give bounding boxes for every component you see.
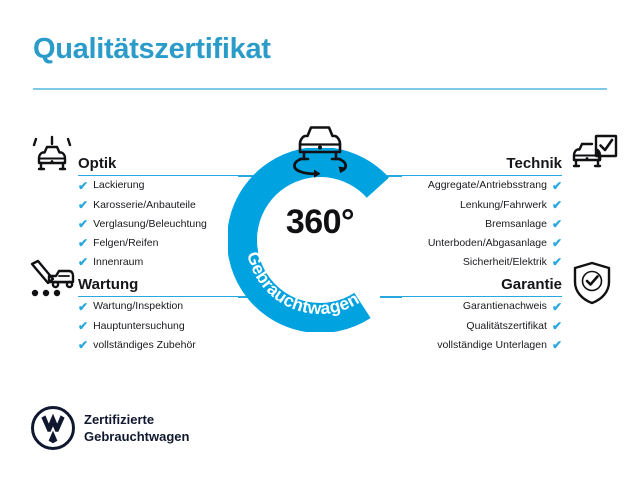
section-divider-garantie bbox=[387, 296, 562, 298]
checklist-item-label: Garantienachweis bbox=[463, 301, 547, 312]
section-optik: Optik ✔Lackierung✔Karosserie/Anbauteile✔… bbox=[78, 146, 238, 272]
checklist-item-label: Unterboden/Abgasanlage bbox=[428, 238, 547, 249]
check-icon: ✔ bbox=[78, 180, 88, 192]
check-icon: ✔ bbox=[552, 320, 562, 332]
checklist-item-label: Hauptuntersuchung bbox=[93, 321, 185, 332]
section-garantie: Garantie Garantienachweis✔Qualitätszerti… bbox=[387, 267, 562, 355]
section-header-technik: Technik bbox=[387, 146, 562, 176]
checklist-item-label: vollständige Unterlagen bbox=[437, 340, 547, 351]
page-title: Qualitätszertifikat bbox=[33, 33, 271, 66]
checklist-item-label: Karosserie/Anbauteile bbox=[93, 200, 196, 211]
car-shine-icon bbox=[26, 134, 78, 180]
checklist-item-label: vollständiges Zubehör bbox=[93, 340, 196, 351]
checklist-item: ✔Felgen/Reifen bbox=[78, 234, 238, 253]
shield-check-icon bbox=[570, 260, 614, 306]
check-icon: ✔ bbox=[552, 218, 562, 230]
section-title-wartung: Wartung bbox=[78, 276, 138, 293]
footer-line-2: Gebrauchtwagen bbox=[84, 428, 189, 445]
section-divider-optik bbox=[78, 175, 238, 177]
checklist-item-label: Lackierung bbox=[93, 180, 144, 191]
section-divider-technik bbox=[387, 175, 562, 177]
checklist-item: ✔Verglasung/Beleuchtung bbox=[78, 214, 238, 233]
car-checkbox-icon bbox=[566, 134, 618, 180]
section-technik: Technik Aggregate/Antriebsstrang✔Lenkung… bbox=[387, 146, 562, 272]
badge-degrees-label: 360° bbox=[228, 203, 412, 242]
check-icon: ✔ bbox=[552, 199, 562, 211]
footer-line-1: Zertifizierte bbox=[84, 411, 189, 428]
checklist-item: ✔Hauptuntersuchung bbox=[78, 316, 238, 335]
checklist-item: Aggregate/Antriebsstrang✔ bbox=[387, 176, 562, 195]
checklist-optik: ✔Lackierung✔Karosserie/Anbauteile✔Vergla… bbox=[78, 176, 238, 272]
check-icon: ✔ bbox=[78, 237, 88, 249]
service-pen-car-icon bbox=[24, 258, 80, 304]
check-icon: ✔ bbox=[78, 199, 88, 211]
checklist-item: ✔Lackierung bbox=[78, 176, 238, 195]
checklist-item: ✔Karosserie/Anbauteile bbox=[78, 195, 238, 214]
checklist-item-label: Aggregate/Antriebsstrang bbox=[428, 180, 547, 191]
check-icon: ✔ bbox=[552, 237, 562, 249]
car-front-rotation-icon bbox=[278, 120, 362, 182]
section-divider-wartung bbox=[78, 296, 238, 298]
checklist-item: Qualitätszertifikat✔ bbox=[387, 316, 562, 335]
check-icon: ✔ bbox=[78, 301, 88, 313]
check-icon: ✔ bbox=[78, 218, 88, 230]
section-header-wartung: Wartung bbox=[78, 267, 238, 297]
check-icon: ✔ bbox=[552, 301, 562, 313]
checklist-item-label: Wartung/Inspektion bbox=[93, 301, 183, 312]
checklist-item: Garantienachweis✔ bbox=[387, 297, 562, 316]
check-icon: ✔ bbox=[552, 339, 562, 351]
checklist-item: ✔Wartung/Inspektion bbox=[78, 297, 238, 316]
certificate-page: Qualitätszertifikat bbox=[0, 0, 640, 480]
checklist-item: Unterboden/Abgasanlage✔ bbox=[387, 234, 562, 253]
checklist-item-label: Lenkung/Fahrwerk bbox=[460, 200, 547, 211]
section-wartung: Wartung ✔Wartung/Inspektion✔Hauptuntersu… bbox=[78, 267, 238, 355]
checklist-item: vollständige Unterlagen✔ bbox=[387, 335, 562, 354]
checklist-item: Bremsanlage✔ bbox=[387, 214, 562, 233]
checklist-wartung: ✔Wartung/Inspektion✔Hauptuntersuchung✔vo… bbox=[78, 297, 238, 355]
section-header-optik: Optik bbox=[78, 146, 238, 176]
check-icon: ✔ bbox=[552, 180, 562, 192]
section-title-optik: Optik bbox=[78, 155, 116, 172]
checklist-item-label: Bremsanlage bbox=[485, 219, 547, 230]
section-title-garantie: Garantie bbox=[501, 276, 562, 293]
checklist-technik: Aggregate/Antriebsstrang✔Lenkung/Fahrwer… bbox=[387, 176, 562, 272]
section-header-garantie: Garantie bbox=[387, 267, 562, 297]
checklist-item: ✔vollständiges Zubehör bbox=[78, 335, 238, 354]
checklist-item-label: Felgen/Reifen bbox=[93, 238, 158, 249]
check-icon: ✔ bbox=[78, 320, 88, 332]
checklist-item-label: Qualitätszertifikat bbox=[466, 321, 547, 332]
title-divider bbox=[33, 88, 607, 90]
vw-logo bbox=[31, 406, 75, 450]
section-title-technik: Technik bbox=[506, 155, 562, 172]
check-icon: ✔ bbox=[78, 339, 88, 351]
checklist-item: Lenkung/Fahrwerk✔ bbox=[387, 195, 562, 214]
checklist-garantie: Garantienachweis✔Qualitätszertifikat✔vol… bbox=[387, 297, 562, 355]
footer-text: Zertifizierte Gebrauchtwagen bbox=[84, 411, 189, 445]
checklist-item-label: Verglasung/Beleuchtung bbox=[93, 219, 207, 230]
